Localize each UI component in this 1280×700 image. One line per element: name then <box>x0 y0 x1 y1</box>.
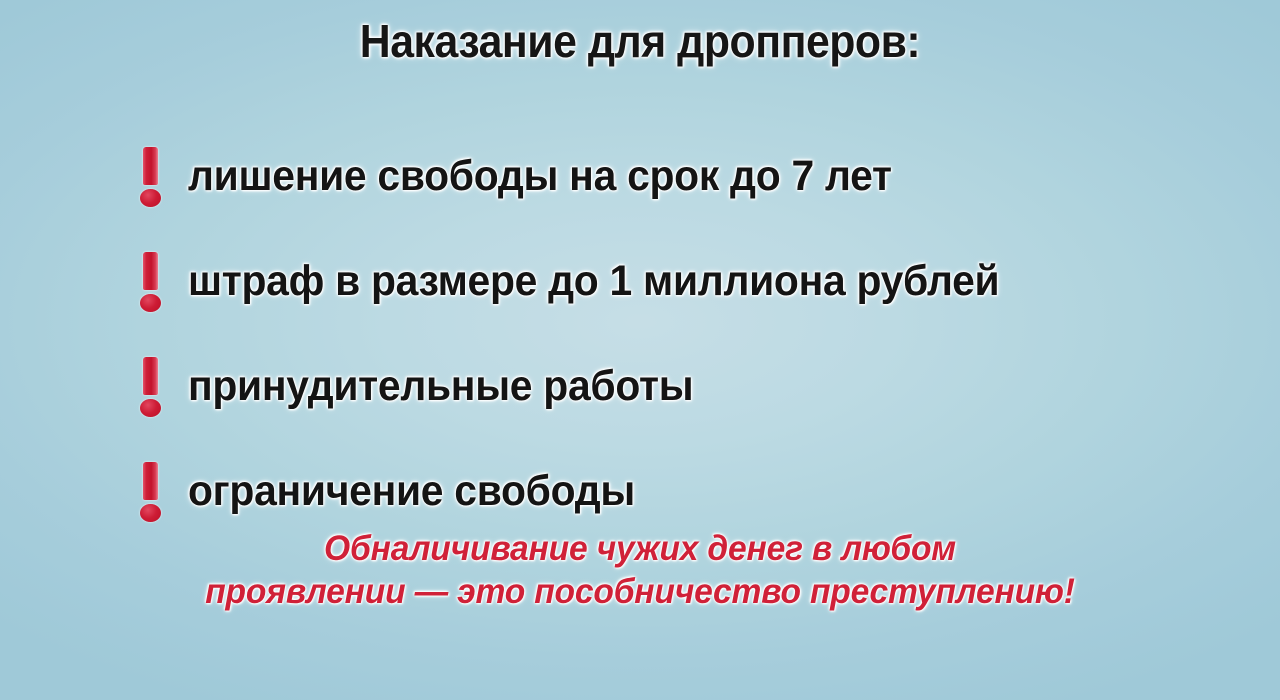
list-item: принудительные работы <box>136 350 1196 422</box>
exclamation-mark-icon <box>136 250 168 312</box>
exclamation-dot <box>140 294 161 312</box>
exclamation-mark-icon <box>136 145 168 207</box>
list-item-label: ограничение свободы <box>188 467 635 516</box>
page-title: Наказание для дропперов: <box>45 14 1235 68</box>
exclamation-bar <box>143 252 158 290</box>
warning-footer-line-1: Обналичивание чужих денег в любом <box>26 528 1255 571</box>
exclamation-dot <box>140 399 161 417</box>
exclamation-mark-icon <box>136 355 168 417</box>
exclamation-bar <box>143 147 158 185</box>
warning-footer: Обналичивание чужих денег в любом проявл… <box>26 528 1255 613</box>
list-item-label: лишение свободы на срок до 7 лет <box>188 152 892 201</box>
exclamation-dot <box>140 504 161 522</box>
list-item: штраф в размере до 1 миллиона рублей <box>136 245 1196 317</box>
punishment-list: лишение свободы на срок до 7 лет штраф в… <box>136 140 1196 560</box>
exclamation-bar <box>143 462 158 500</box>
exclamation-dot <box>140 189 161 207</box>
list-item-label: штраф в размере до 1 миллиона рублей <box>188 257 999 306</box>
slide-canvas: Наказание для дропперов: лишение свободы… <box>0 0 1280 700</box>
list-item: лишение свободы на срок до 7 лет <box>136 140 1196 212</box>
exclamation-bar <box>143 357 158 395</box>
list-item-label: принудительные работы <box>188 362 693 411</box>
exclamation-mark-icon <box>136 460 168 522</box>
list-item: ограничение свободы <box>136 455 1196 527</box>
warning-footer-line-2: проявлении — это пособничество преступле… <box>26 571 1255 614</box>
